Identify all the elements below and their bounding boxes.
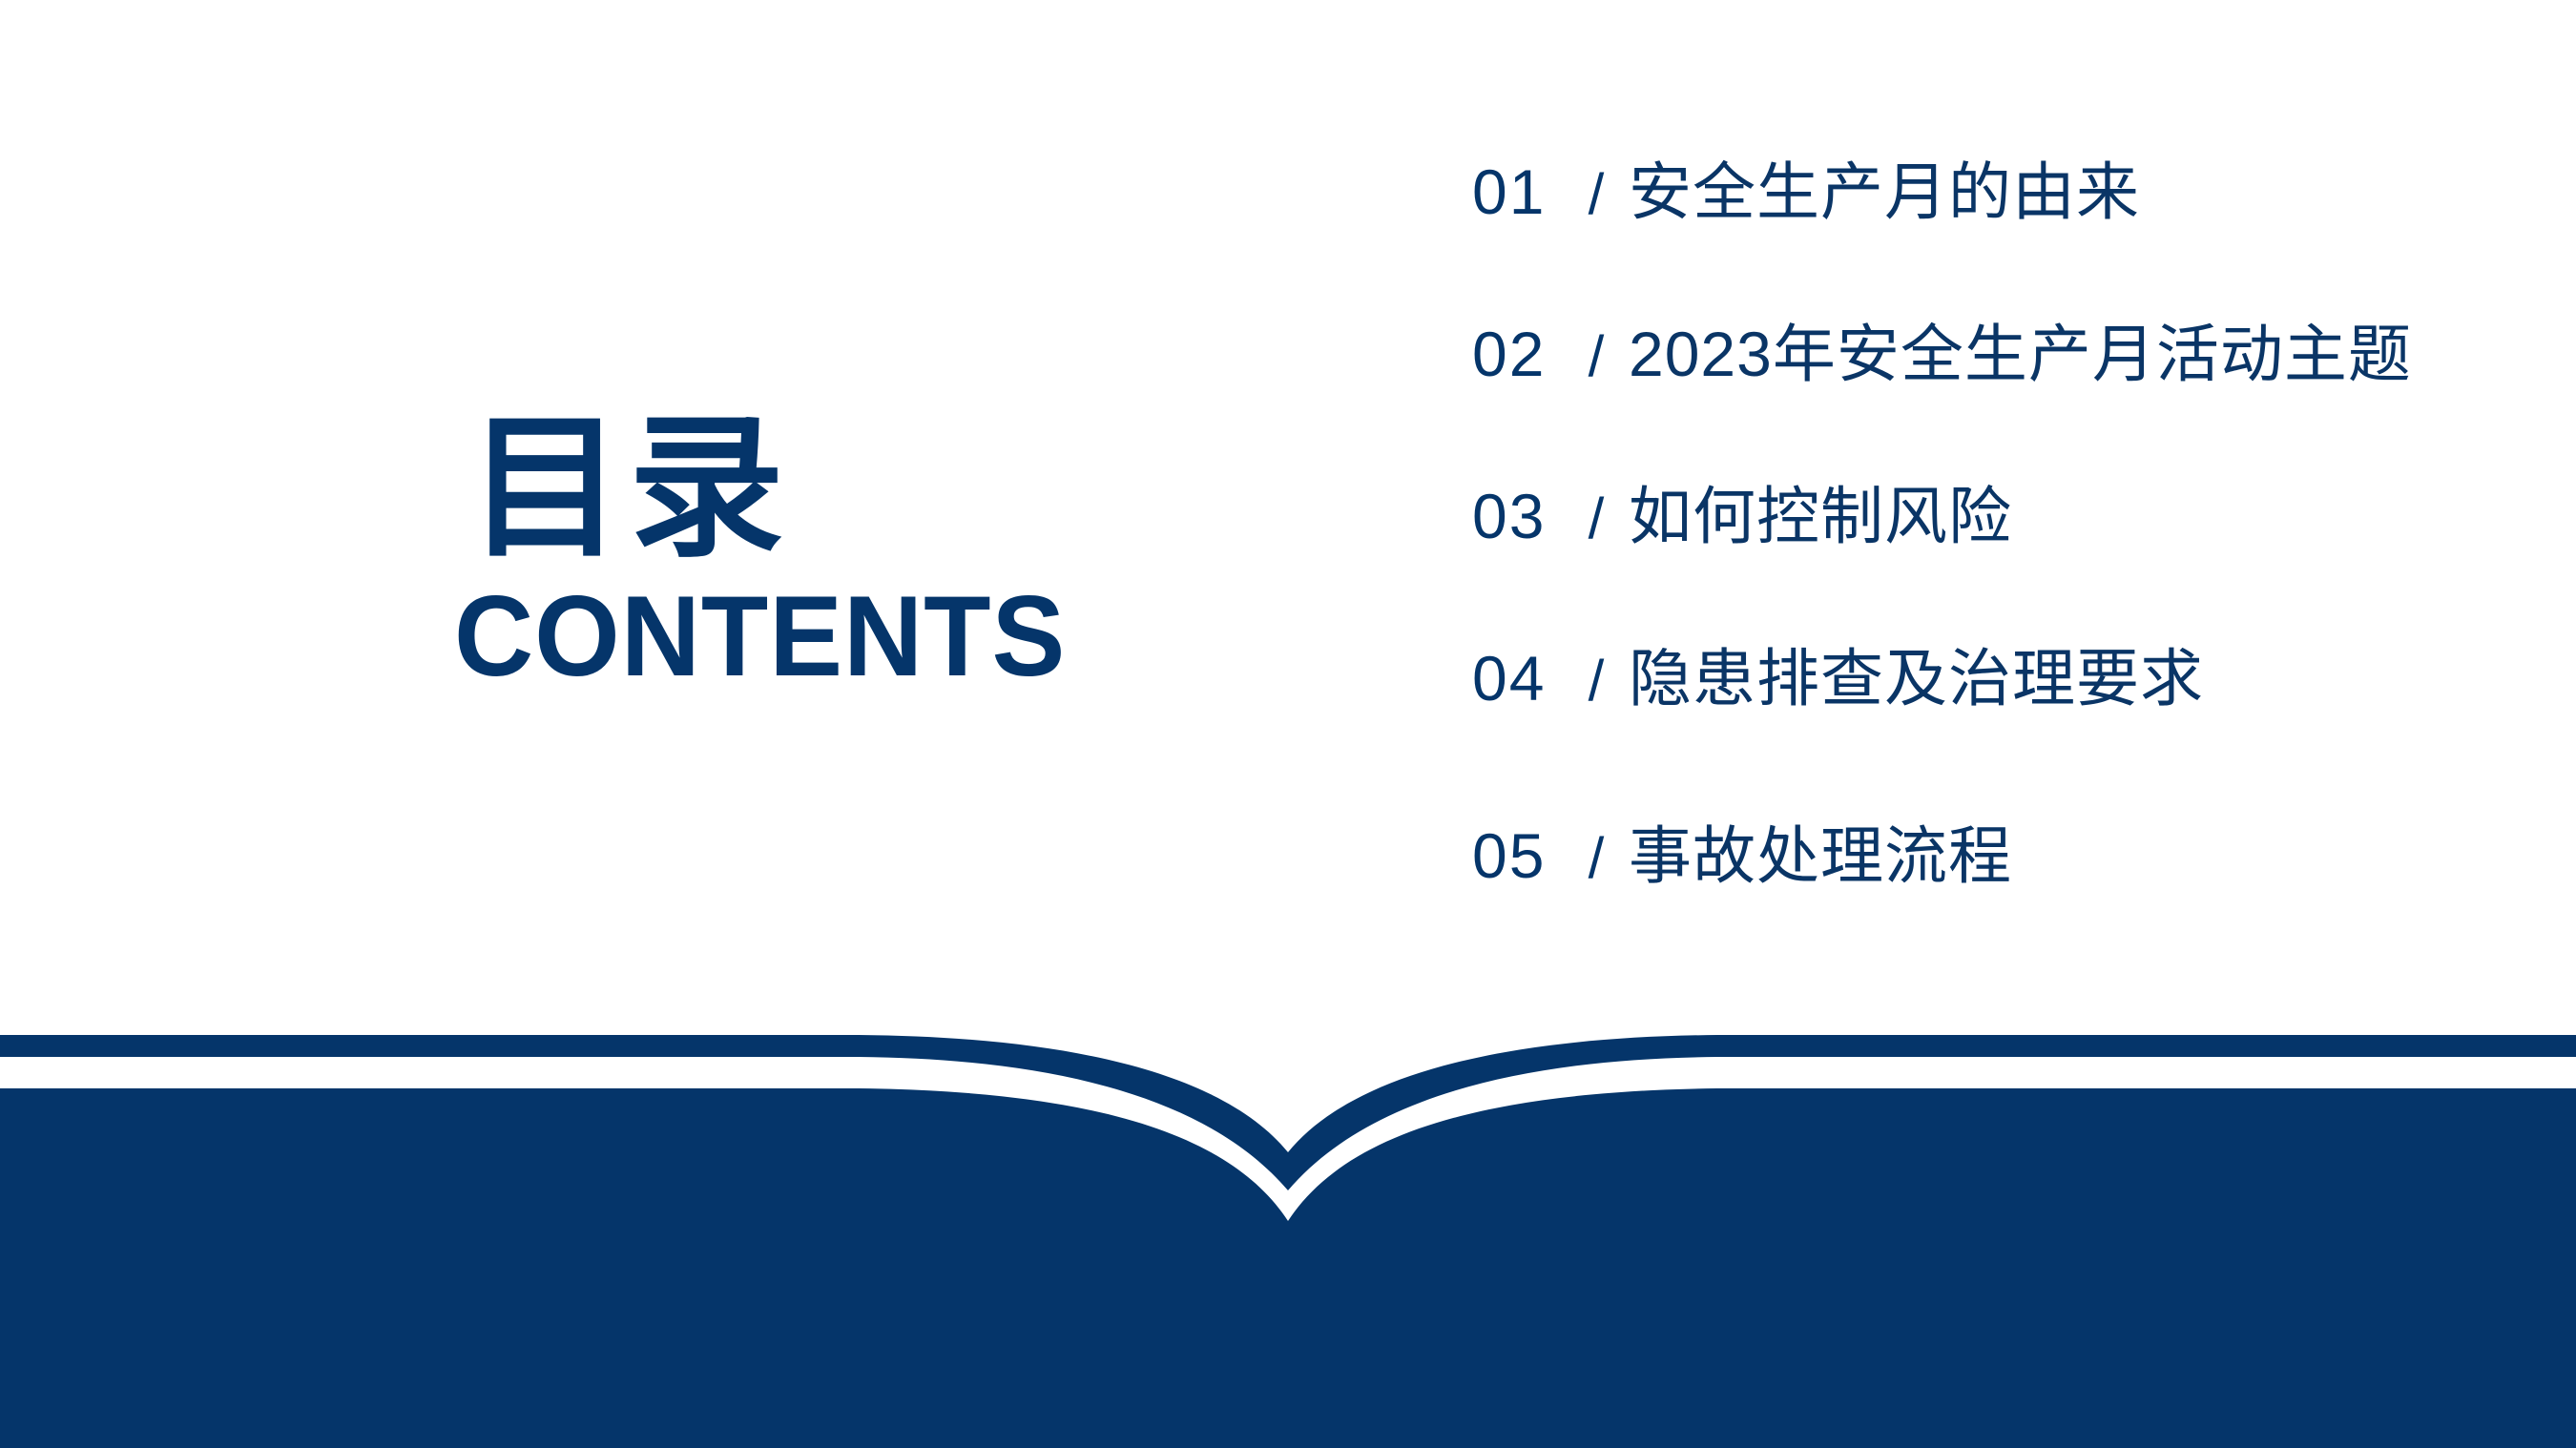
toc-item-01[interactable]: 01 / 安全生产月的由来 bbox=[1472, 141, 2474, 303]
toc-number: 02 bbox=[1472, 318, 1568, 390]
toc-number: 05 bbox=[1472, 819, 1568, 892]
toc-separator: / bbox=[1568, 323, 1625, 389]
toc-item-04[interactable]: 04 / 隐患排查及治理要求 bbox=[1472, 628, 2474, 790]
toc-label: 安全生产月的由来 bbox=[1629, 141, 2140, 233]
toc-separator: / bbox=[1568, 161, 1625, 227]
page-title-cn: 目录 bbox=[467, 410, 1135, 566]
toc-number: 04 bbox=[1472, 642, 1568, 714]
page-title: 目录 CONTENTS bbox=[467, 410, 1135, 693]
toc-separator: / bbox=[1568, 486, 1625, 551]
toc-label: 如何控制风险 bbox=[1629, 465, 2012, 557]
toc-item-02[interactable]: 02 / 2023年安全生产月活动主题 bbox=[1472, 303, 2474, 465]
toc-item-03[interactable]: 03 / 如何控制风险 bbox=[1472, 465, 2474, 628]
page-title-en: CONTENTS bbox=[454, 579, 1108, 693]
table-of-contents: 01 / 安全生产月的由来 02 / 2023年安全生产月活动主题 03 / 如… bbox=[1472, 141, 2474, 967]
book-body-shape bbox=[0, 1088, 2576, 1448]
toc-label: 2023年安全生产月活动主题 bbox=[1629, 303, 2412, 395]
toc-label: 事故处理流程 bbox=[1629, 805, 2012, 897]
toc-item-05[interactable]: 05 / 事故处理流程 bbox=[1472, 805, 2474, 967]
open-book-decoration bbox=[0, 1019, 2576, 1448]
toc-separator: / bbox=[1568, 825, 1625, 891]
toc-number: 03 bbox=[1472, 480, 1568, 552]
slide-canvas: 目录 CONTENTS 01 / 安全生产月的由来 02 / 2023年安全生产… bbox=[0, 0, 2576, 1448]
toc-separator: / bbox=[1568, 648, 1625, 714]
toc-number: 01 bbox=[1472, 155, 1568, 228]
toc-label: 隐患排查及治理要求 bbox=[1629, 628, 2204, 719]
